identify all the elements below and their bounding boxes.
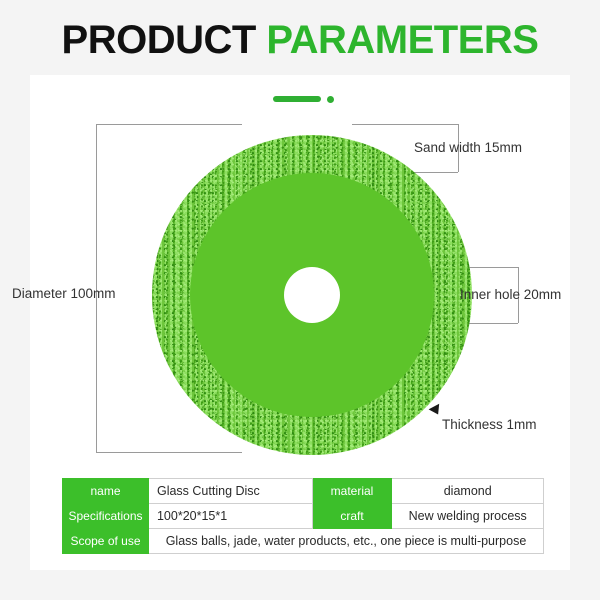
spec-value-scope-of-use: Glass balls, jade, water products, etc.,… [148, 529, 543, 554]
spec-key-specifications: Specifications [63, 504, 149, 529]
page-title: PRODUCT PARAMETERS [0, 20, 600, 60]
spec-value-specifications: 100*20*15*1 [148, 504, 312, 529]
label-sand-width: Sand width 15mm [414, 141, 522, 155]
cutting-disc-illustration [152, 135, 472, 455]
table-row: Specifications 100*20*15*1 craft New wel… [63, 504, 544, 529]
spec-value-material: diamond [392, 479, 544, 504]
title-word-product: PRODUCT [62, 18, 256, 62]
spec-key-material: material [312, 479, 392, 504]
spec-value-craft: New welding process [392, 504, 544, 529]
product-diagram: Diameter 100mm Sand width 15mm Inner hol… [30, 75, 570, 485]
specification-table: name Glass Cutting Disc material diamond… [62, 478, 544, 554]
title-space [256, 18, 267, 62]
spec-key-scope-of-use: Scope of use [63, 529, 149, 554]
spec-value-name: Glass Cutting Disc [148, 479, 312, 504]
label-inner-hole: Inner hole 20mm [460, 288, 561, 302]
label-thickness: Thickness 1mm [442, 418, 537, 432]
content-panel: Diameter 100mm Sand width 15mm Inner hol… [30, 75, 570, 570]
diameter-bracket-top [96, 124, 242, 125]
spec-key-craft: craft [312, 504, 392, 529]
table-row: Scope of use Glass balls, jade, water pr… [63, 529, 544, 554]
table-row: name Glass Cutting Disc material diamond [63, 479, 544, 504]
title-word-parameters: PARAMETERS [266, 18, 538, 62]
label-diameter: Diameter 100mm [12, 287, 116, 301]
disc-center-hole [284, 267, 340, 323]
sand-width-bracket-top [352, 124, 458, 125]
spec-key-name: name [63, 479, 149, 504]
